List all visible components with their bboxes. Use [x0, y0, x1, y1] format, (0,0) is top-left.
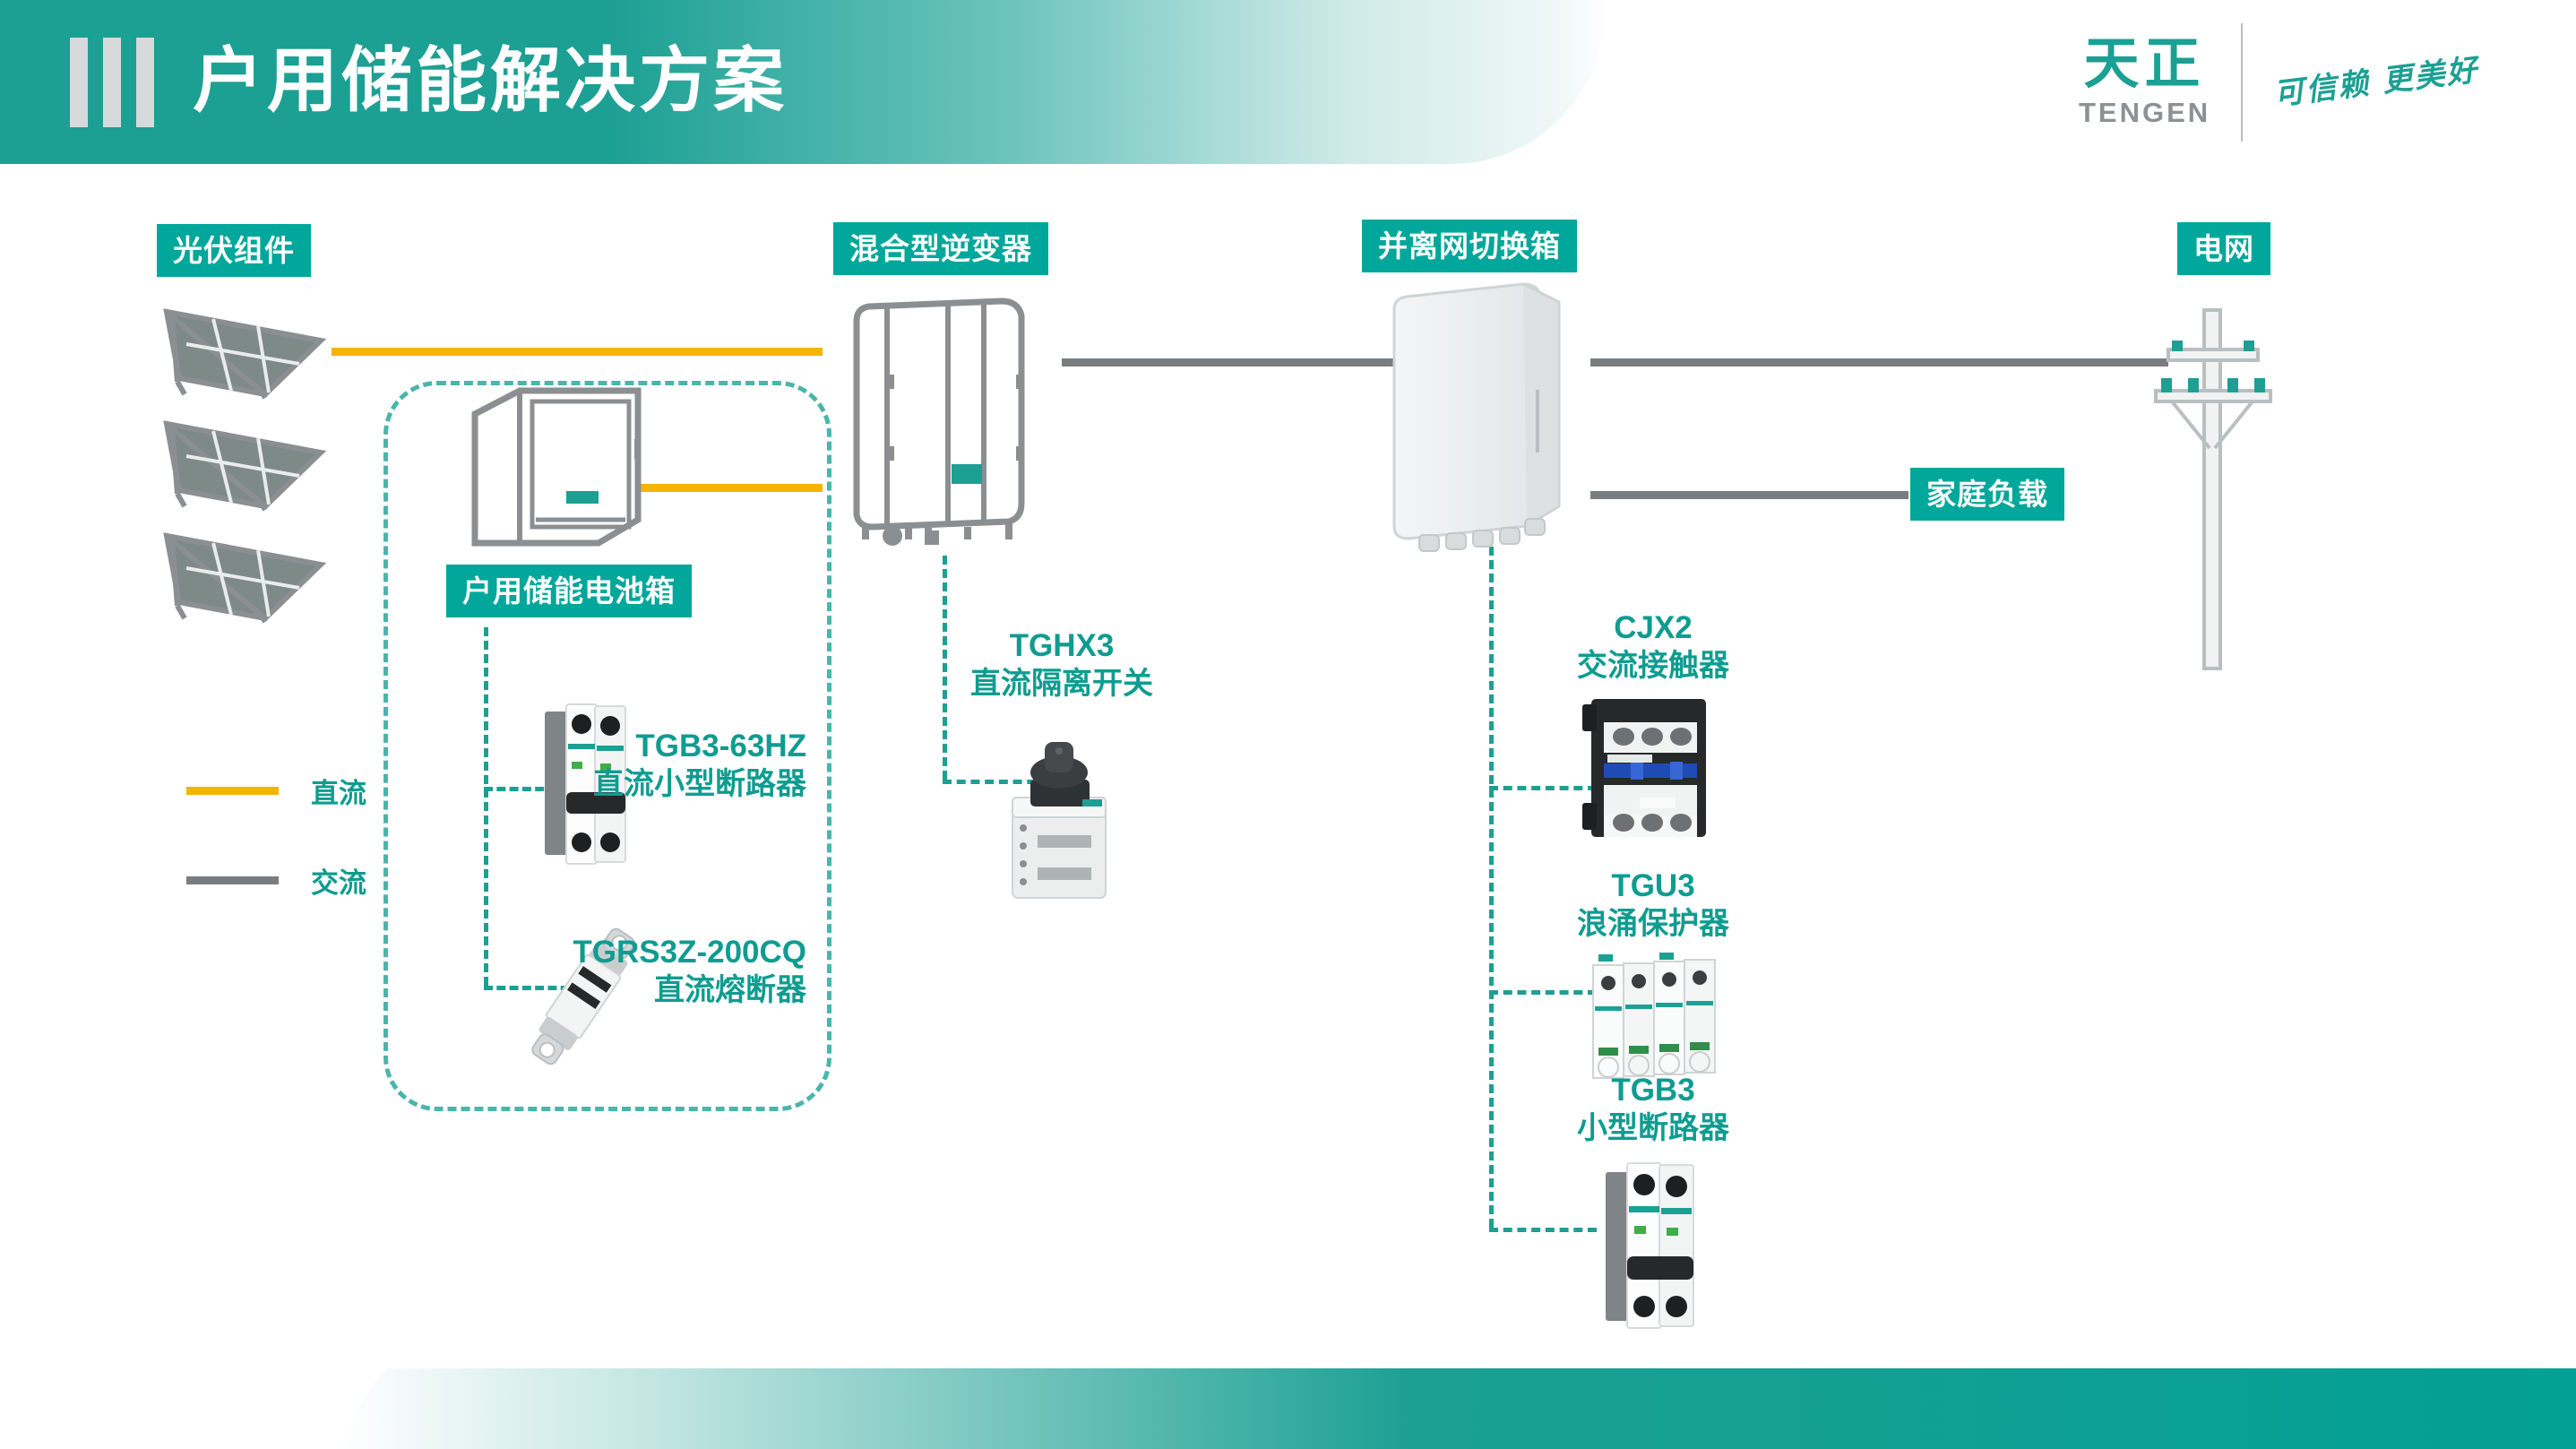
page-title: 户用储能解决方案	[193, 27, 788, 134]
tghx3-product-image	[996, 735, 1122, 905]
solar-panel-icon	[159, 305, 330, 399]
brand-logo: 天正 TENGEN 可信赖 更美好	[2079, 23, 2479, 142]
utility-pole-icon	[2150, 285, 2276, 670]
legend-dc-swatch	[186, 787, 279, 795]
legend-ac: 交流	[186, 860, 366, 901]
tgu3-product-image	[1584, 953, 1727, 1087]
legend-ac-swatch	[186, 876, 279, 884]
cjx2-product-image	[1577, 692, 1720, 844]
caption-model: TGB3-63HZ	[573, 728, 806, 765]
legend-dc: 直流	[186, 771, 366, 811]
legend-ac-label: 交流	[311, 860, 366, 901]
caption-tgu3: TGU3 浪涌保护器	[1523, 867, 1783, 943]
tgb3-product-image	[1597, 1156, 1704, 1335]
footer-curve	[340, 1368, 2576, 1449]
logo-mark: 天正 TENGEN	[2079, 36, 2210, 129]
logo-english-name: TENGEN	[2079, 97, 2210, 129]
caption-model: TGHX3	[932, 627, 1192, 665]
caption-desc: 交流接触器	[1523, 647, 1783, 685]
page-footer	[0, 1368, 2576, 1449]
caption-desc: 直流熔断器	[538, 971, 806, 1009]
caption-tgb3: TGB3 小型断路器	[1523, 1072, 1783, 1147]
logo-divider	[2241, 23, 2243, 142]
tag-pv-modules: 光伏组件	[157, 224, 311, 277]
caption-tgb3-63hz: TGB3-63HZ 直流小型断路器	[573, 728, 806, 803]
caption-model: TGB3	[1523, 1072, 1783, 1109]
logo-slogan: 可信赖 更美好	[2272, 52, 2481, 113]
tag-inverter: 混合型逆变器	[833, 222, 1048, 275]
battery-cabinet-icon	[466, 385, 645, 556]
solar-panel-icon	[159, 529, 330, 623]
ac-line-switchbox-to-grid	[1590, 358, 2168, 367]
legend-dc-label: 直流	[311, 771, 366, 811]
logo-chinese-name: 天正	[2084, 36, 2206, 93]
caption-model: CJX2	[1523, 609, 1783, 647]
caption-tghx3: TGHX3 直流隔离开关	[932, 627, 1192, 703]
ac-line-inverter-to-switchbox	[1062, 358, 1393, 367]
ac-line-switchbox-to-load	[1590, 491, 1908, 499]
caption-desc: 小型断路器	[1523, 1109, 1783, 1147]
caption-model: TGRS3Z-200CQ	[538, 934, 806, 971]
battery-branch-trunk	[484, 627, 488, 986]
caption-model: TGU3	[1523, 867, 1783, 905]
caption-desc: 直流小型断路器	[573, 765, 806, 803]
caption-cjx2: CJX2 交流接触器	[1523, 609, 1783, 685]
solar-panel-icon	[159, 417, 330, 511]
tag-switch-box: 并离网切换箱	[1362, 220, 1577, 272]
caption-desc: 浪涌保护器	[1523, 905, 1783, 943]
switchbox-branch-to-tgu3	[1489, 990, 1597, 995]
switch-cabinet-icon	[1387, 282, 1566, 551]
tag-home-load: 家庭负载	[1910, 468, 2064, 521]
three-bars-icon	[70, 38, 154, 127]
dc-line-pv-to-inverter	[332, 348, 823, 356]
switchbox-branch-trunk	[1489, 547, 1494, 1228]
tag-grid: 电网	[2177, 222, 2270, 275]
hybrid-inverter-icon	[842, 296, 1048, 547]
caption-desc: 直流隔离开关	[932, 665, 1192, 703]
switchbox-branch-to-tgb3	[1489, 1228, 1597, 1232]
caption-tgrs3z-200cq: TGRS3Z-200CQ 直流熔断器	[538, 934, 806, 1009]
